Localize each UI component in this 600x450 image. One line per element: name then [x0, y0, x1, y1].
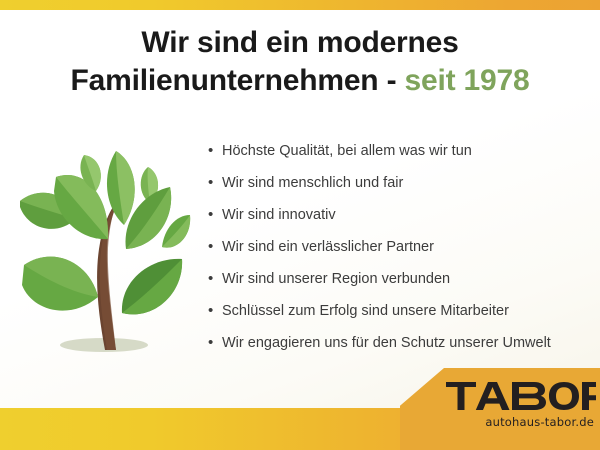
- headline-accent-year: seit 1978: [405, 64, 530, 97]
- tree-leaf-left-lower: [22, 257, 98, 311]
- headline-line-2-main: Familienunternehmen -: [71, 64, 405, 97]
- logo-wordmark: [446, 382, 596, 410]
- bullet-marker-icon: •: [208, 140, 222, 162]
- tree-leaf-midleft: [54, 175, 108, 239]
- headline-line-2: Familienunternehmen - seit 1978: [0, 62, 600, 100]
- list-item-label: Wir sind innovativ: [222, 204, 336, 226]
- bullet-marker-icon: •: [208, 236, 222, 258]
- list-item: • Höchste Qualität, bei allem was wir tu…: [208, 140, 592, 172]
- bullet-marker-icon: •: [208, 332, 222, 354]
- slide-canvas: Wir sind ein modernes Familienunternehme…: [0, 0, 600, 450]
- list-item-label: Wir engagieren uns für den Schutz unsere…: [222, 332, 551, 354]
- bullet-marker-icon: •: [208, 204, 222, 226]
- tree-leaf-right-lower: [122, 259, 182, 314]
- logo-website-url: autohaus-tabor.de: [400, 415, 594, 429]
- list-item: • Wir sind unserer Region verbunden: [208, 268, 592, 300]
- list-item: • Wir engagieren uns für den Schutz unse…: [208, 332, 592, 364]
- bullet-marker-icon: •: [208, 300, 222, 322]
- list-item: • Wir sind menschlich und fair: [208, 172, 592, 204]
- bullet-marker-icon: •: [208, 268, 222, 290]
- brand-logo: autohaus-tabor.de: [400, 368, 600, 450]
- values-list: • Höchste Qualität, bei allem was wir tu…: [208, 140, 592, 364]
- list-item-label: Schlüssel zum Erfolg sind unsere Mitarbe…: [222, 300, 509, 322]
- list-item-label: Wir sind ein verlässlicher Partner: [222, 236, 434, 258]
- list-item: • Wir sind innovativ: [208, 204, 592, 236]
- bullet-marker-icon: •: [208, 172, 222, 194]
- list-item-label: Wir sind unserer Region verbunden: [222, 268, 450, 290]
- headline-line-1: Wir sind ein modernes: [0, 24, 600, 62]
- list-item: • Schlüssel zum Erfolg sind unsere Mitar…: [208, 300, 592, 332]
- top-accent-bar: [0, 0, 600, 10]
- list-item-label: Wir sind menschlich und fair: [222, 172, 403, 194]
- page-title: Wir sind ein modernes Familienunternehme…: [0, 24, 600, 100]
- tree-icon: [12, 145, 192, 360]
- list-item: • Wir sind ein verlässlicher Partner: [208, 236, 592, 268]
- list-item-label: Höchste Qualität, bei allem was wir tun: [222, 140, 472, 162]
